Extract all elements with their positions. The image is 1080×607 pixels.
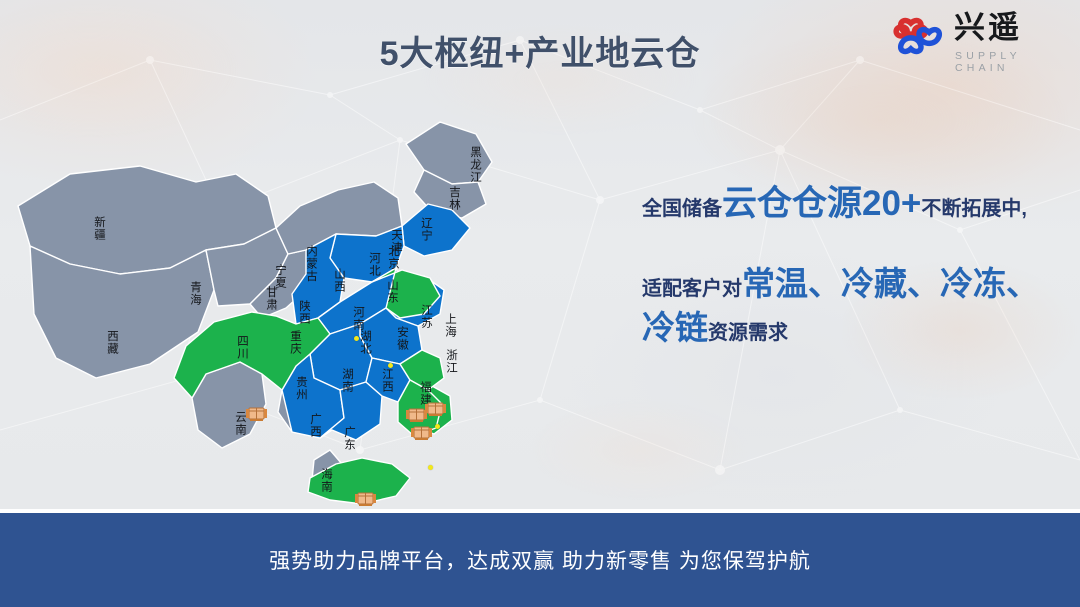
province-label: 广东 (344, 425, 356, 452)
province-label: 黑龙江 (470, 145, 482, 184)
province-label: 吉林 (449, 185, 461, 212)
warehouse-icon (410, 422, 436, 442)
province-label: 河南 (353, 305, 365, 332)
copy-line2-pre: 适配客户对 (642, 278, 742, 300)
province-label: 新疆 (94, 215, 106, 242)
province-label: 陕西 (299, 299, 311, 326)
warehouse-icon (424, 398, 450, 418)
copy-line-1: 全国储备云仓仓源20+不断拓展中, (642, 186, 1072, 223)
infinity-knot-logo-icon (892, 14, 948, 58)
copy-line3-highlight: 冷链 (642, 309, 708, 346)
city-marker-dot (388, 363, 393, 368)
province-label: 江西 (382, 367, 394, 394)
copy-line-3: 冷链资源需求 (642, 311, 1072, 346)
bottom-banner-text: 强势助力品牌平台，达成双赢 助力新零售 为您保驾护航 (269, 545, 811, 575)
copy-line1-post: 不断拓展中, (921, 198, 1027, 220)
copy-line1-highlight: 云仓仓源20+ (722, 184, 921, 223)
province-label: 辽宁 (421, 216, 433, 243)
brand-name-cn: 兴遥 (954, 12, 1022, 43)
province-label: 安徽 (397, 325, 409, 352)
province-label: 西藏 (107, 329, 119, 356)
china-map: 新疆西藏青海甘肃内蒙古宁夏黑龙江吉林辽宁北京天津河北山西山东陕西河南江苏安徽上海… (0, 78, 640, 508)
city-marker-dot (435, 424, 440, 429)
province-label: 海南 (321, 467, 333, 494)
brand-name-en: SUPPLY CHAIN (955, 50, 1064, 74)
province-label: 浙江 (446, 348, 458, 375)
copy-line-2: 适配客户对常温、冷藏、冷冻、 (642, 267, 1072, 302)
copy-line1-pre: 全国储备 (642, 198, 722, 220)
warehouse-icon (354, 488, 380, 508)
china-map-svg: 新疆西藏青海甘肃内蒙古宁夏黑龙江吉林辽宁北京天津河北山西山东陕西河南江苏安徽上海… (0, 78, 640, 508)
brand-logo: 兴遥 SUPPLY CHAIN (892, 10, 1064, 72)
province-label: 天津 (391, 228, 403, 255)
province-label: 山东 (387, 278, 399, 305)
province-label: 江苏 (421, 303, 433, 330)
province-label: 四川 (237, 334, 249, 361)
copy-line2-highlight: 常温、冷藏、冷冻、 (742, 265, 1039, 302)
province-label: 宁夏 (275, 263, 287, 290)
province-label: 山西 (334, 267, 346, 294)
province-label: 贵州 (296, 375, 308, 402)
province-label: 广西 (310, 412, 322, 439)
province-label: 青海 (190, 280, 202, 307)
province-label: 上海 (445, 312, 457, 339)
city-marker-dot (428, 465, 433, 470)
bottom-banner: 强势助力品牌平台，达成双赢 助力新零售 为您保驾护航 (0, 513, 1080, 607)
province-label: 湖南 (342, 367, 354, 394)
copy-line3-post: 资源需求 (708, 322, 788, 344)
province-label: 河北 (369, 251, 381, 278)
slide-root: 5大枢纽+产业地云仓 兴遥 SUPPLY CHAIN (0, 0, 1080, 607)
copy-block: 全国储备云仓仓源20+不断拓展中, 适配客户对常温、冷藏、冷冻、 冷链资源需求 (642, 186, 1072, 346)
province-label: 湖北 (360, 329, 372, 356)
province-label: 内蒙古 (306, 244, 318, 283)
province-label: 重庆 (290, 329, 302, 356)
warehouse-icon (245, 403, 271, 423)
city-marker-dot (354, 336, 359, 341)
